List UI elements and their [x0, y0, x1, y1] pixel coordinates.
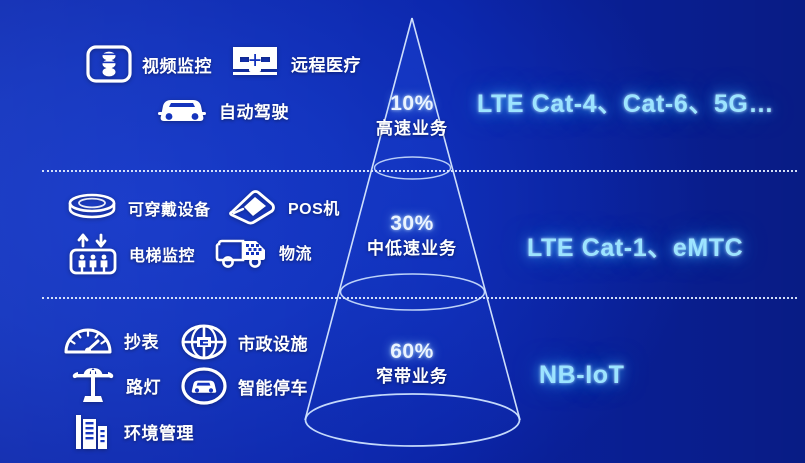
cone-service-mid: 中低速业务 [312, 238, 512, 260]
divider-high-mid [42, 170, 797, 172]
tech-label-mid-speed: LTE Cat-1、eMTC [527, 228, 743, 264]
tech-label-high-speed: LTE Cat-4、Cat-6、5G… [477, 84, 774, 120]
divider-mid-low [42, 297, 797, 299]
cone-service-low: 窄带业务 [312, 366, 512, 388]
cone-label-mid-speed: 30% 中低速业务 [312, 212, 512, 260]
tech-label-narrow-band: NB-IoT [539, 361, 625, 390]
cone-percent-low: 60% [312, 340, 512, 364]
cone-percent-mid: 30% [312, 212, 512, 236]
cone-service-high: 高速业务 [312, 118, 512, 140]
infographic-canvas: 10% 高速业务 30% 中低速业务 60% 窄带业务 LTE Cat-4、Ca… [0, 0, 805, 463]
cone-label-narrow-band: 60% 窄带业务 [312, 340, 512, 388]
